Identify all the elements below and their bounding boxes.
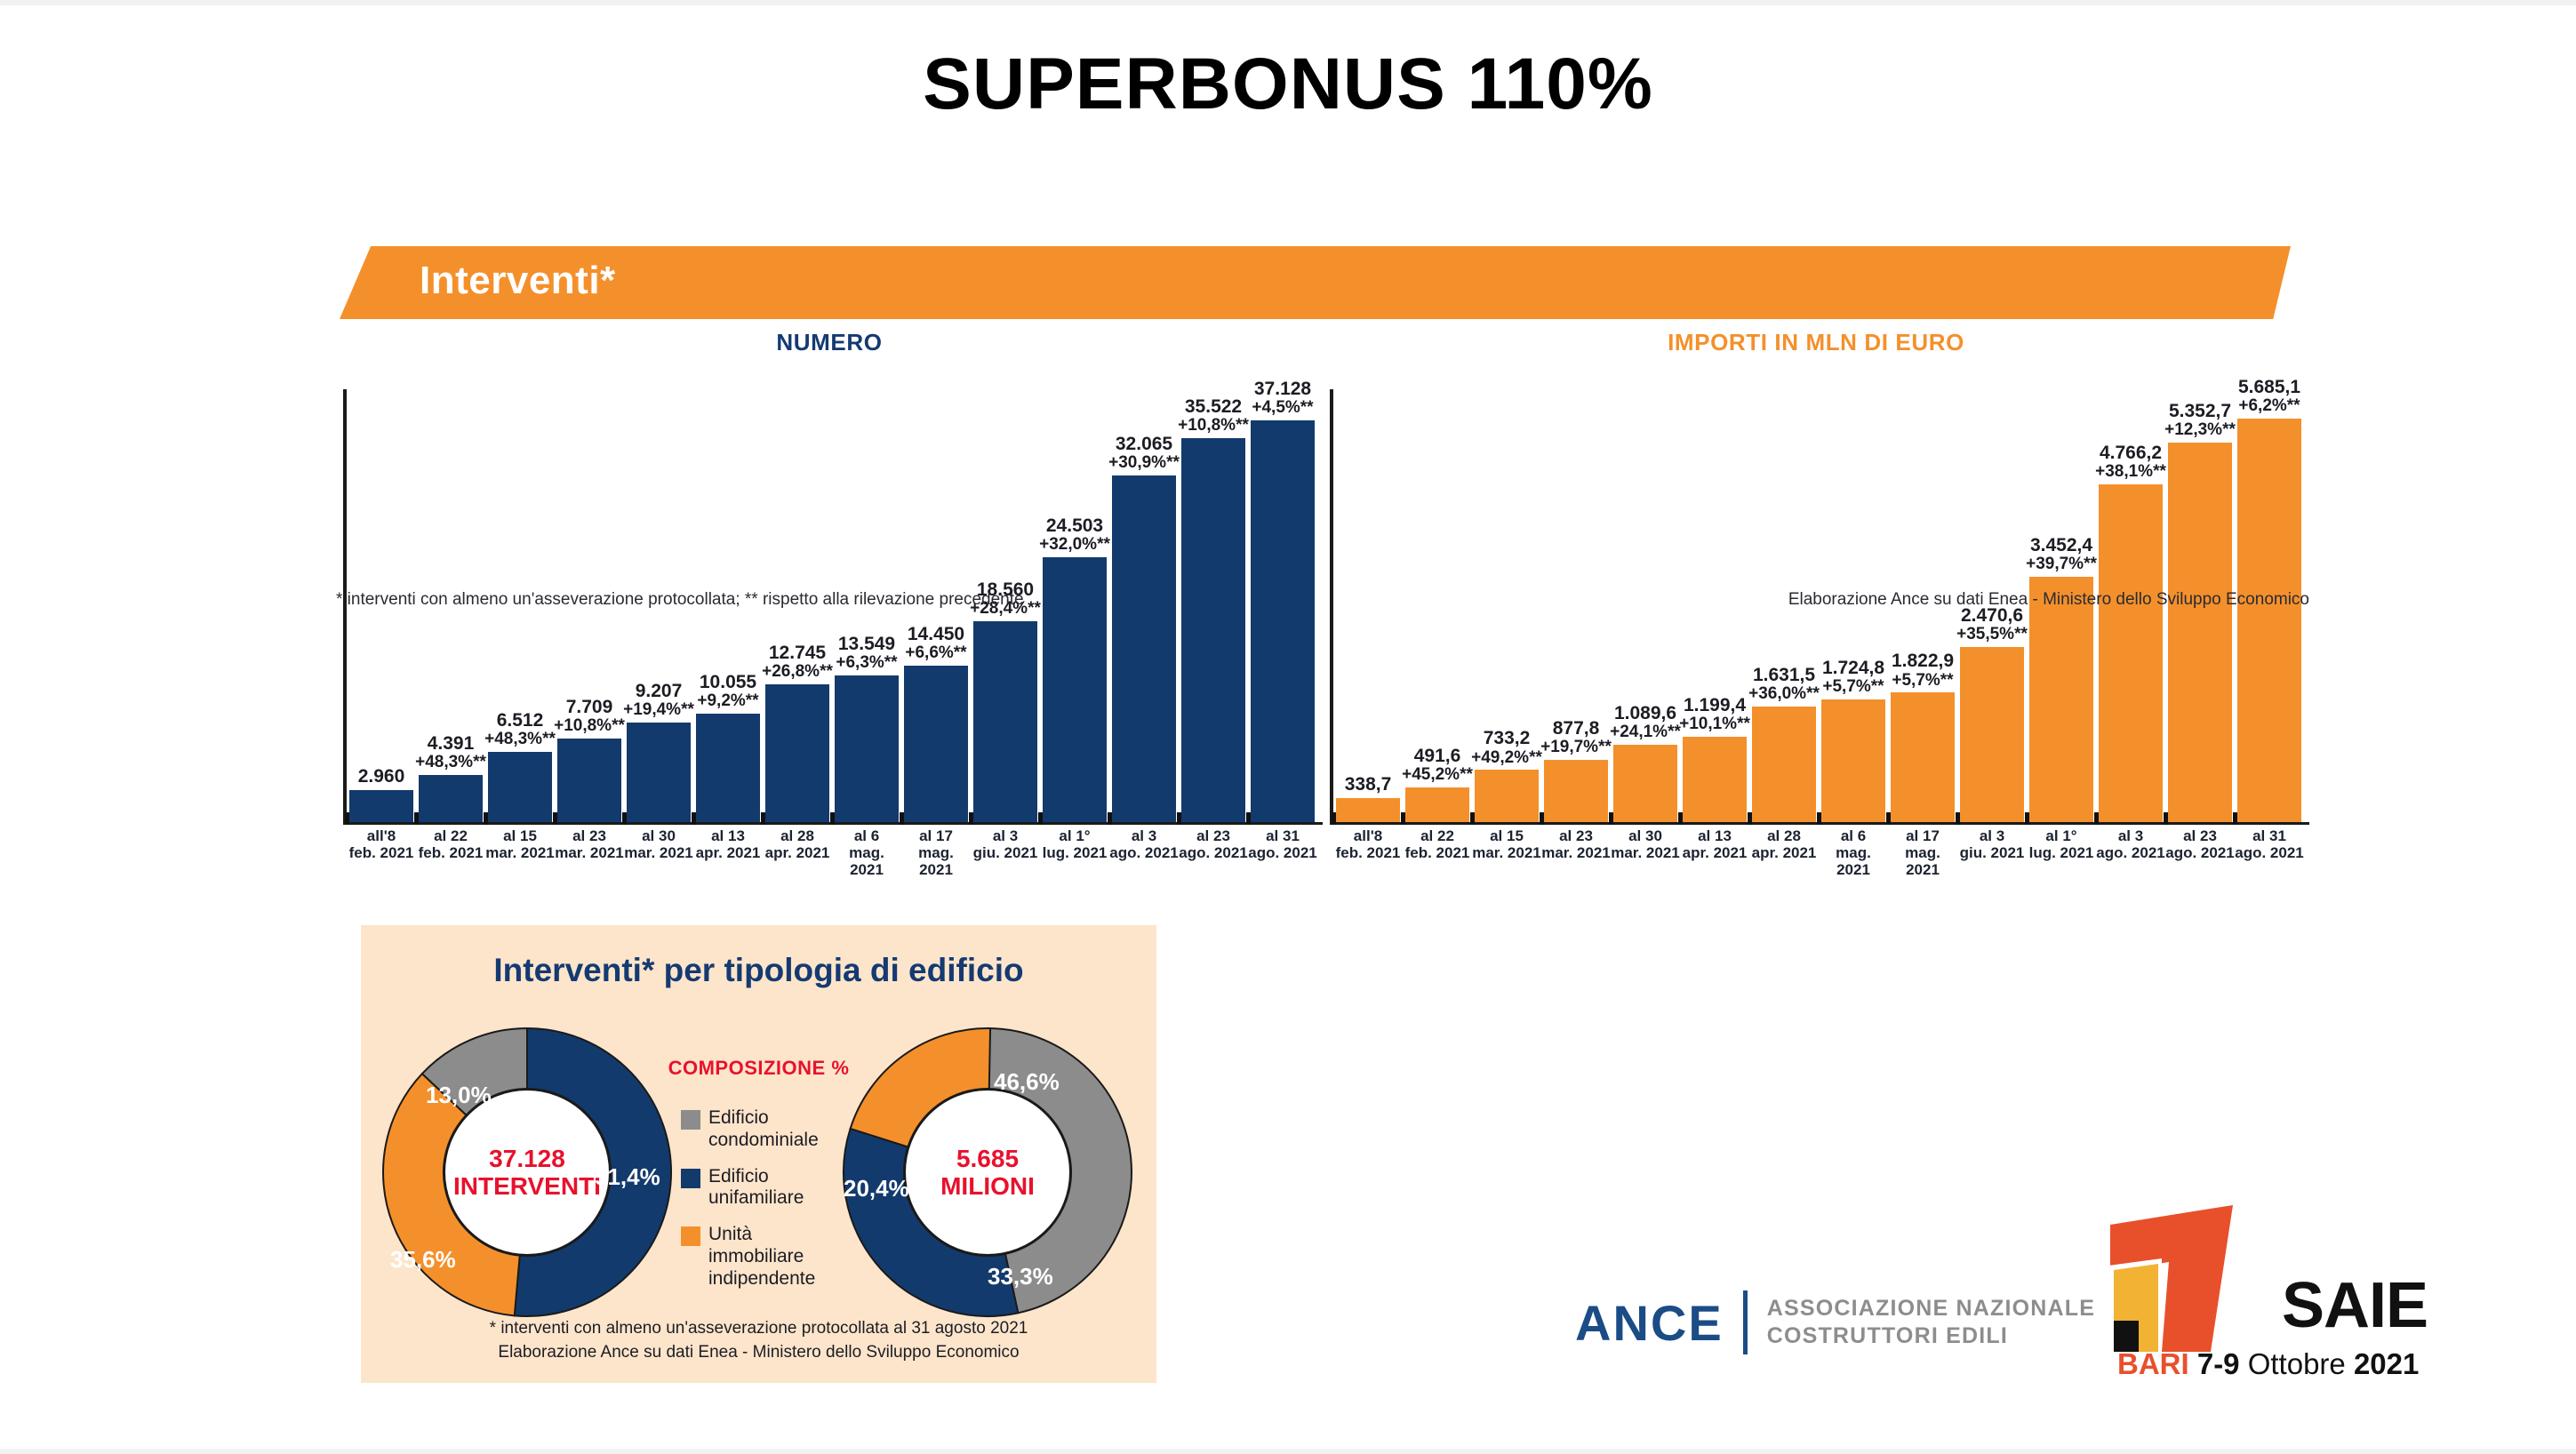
axis-tick bbox=[1038, 812, 1043, 825]
bar-rect bbox=[1043, 557, 1107, 822]
x-axis-label: al 23mar. 2021 bbox=[1541, 827, 1611, 878]
x-axis-label: al 13apr. 2021 bbox=[1680, 827, 1749, 878]
donut-chart-interventi: 37.128 INTERVENTI 51,4% 35,6% 13,0% bbox=[380, 1026, 674, 1319]
bar-slot: 32.065+30,9%** bbox=[1109, 389, 1179, 822]
donut-note-line1: * interventi con almeno un'asseverazione… bbox=[361, 1316, 1156, 1341]
bar-rect bbox=[488, 752, 552, 822]
saie-dates: 7-9 bbox=[2197, 1347, 2240, 1380]
bar-rect bbox=[1336, 798, 1400, 822]
axis-tick bbox=[1177, 812, 1181, 825]
axis-tick bbox=[1956, 812, 1960, 825]
x-axis-label: al 30mar. 2021 bbox=[624, 827, 693, 878]
bottom-edge-strip bbox=[0, 1449, 2576, 1454]
bar-rect bbox=[696, 714, 760, 822]
axis-tick bbox=[2094, 812, 2099, 825]
x-axis-label: al 3ago. 2021 bbox=[1109, 827, 1179, 878]
x-axis-label: al 23mar. 2021 bbox=[555, 827, 624, 878]
x-label-line1: al 15 bbox=[1472, 827, 1541, 844]
axis-tick bbox=[692, 812, 696, 825]
bar-rect bbox=[2029, 577, 2093, 822]
axis-tick bbox=[900, 812, 904, 825]
bar-rect bbox=[557, 739, 621, 822]
x-label-line1: al 17 bbox=[1888, 827, 1957, 844]
legend-label-line1: Edificio bbox=[708, 1166, 804, 1188]
legend-label: Edificiounifamiliare bbox=[708, 1166, 804, 1210]
axis-tick bbox=[1886, 812, 1891, 825]
x-label-line1: al 13 bbox=[693, 827, 763, 844]
axis-tick bbox=[1678, 812, 1683, 825]
bar-rect bbox=[1475, 770, 1539, 822]
donut-chart-milioni: 5.685 MILIONI 46,6% 33,3% 20,4% bbox=[841, 1026, 1134, 1319]
x-label-line1: al 6 bbox=[1819, 827, 1888, 844]
x-label-line1: all'8 bbox=[1333, 827, 1403, 844]
axis-tick bbox=[1817, 812, 1821, 825]
axis-tick bbox=[622, 812, 627, 825]
x-label-line2: mag. 2021 bbox=[1819, 844, 1888, 878]
chart-numero-note: * interventi con almeno un'asseverazione… bbox=[336, 590, 1024, 610]
x-label-line2: feb. 2021 bbox=[416, 844, 485, 861]
ance-subtitle-line2: COSTRUTTORI EDILI bbox=[1767, 1322, 2095, 1350]
x-axis-label: al 1°lug. 2021 bbox=[2027, 827, 2096, 878]
bar-rect bbox=[2237, 419, 2301, 822]
x-label-line1: al 30 bbox=[624, 827, 693, 844]
legend-label-line2: condominiale bbox=[708, 1130, 819, 1152]
x-label-line1: all'8 bbox=[347, 827, 416, 844]
donut-panel-note: * interventi con almeno un'asseverazione… bbox=[361, 1316, 1156, 1365]
bar-rect bbox=[349, 790, 413, 822]
axis-tick bbox=[1332, 812, 1336, 825]
x-axis-label: al 23ago. 2021 bbox=[2165, 827, 2235, 878]
axis-tick bbox=[345, 812, 349, 825]
x-label-line1: al 23 bbox=[2165, 827, 2235, 844]
x-label-line1: al 13 bbox=[1680, 827, 1749, 844]
saie-month: Ottobre bbox=[2248, 1347, 2346, 1380]
x-axis-label: al 17mag. 2021 bbox=[1888, 827, 1957, 878]
bar-rect bbox=[1821, 699, 1885, 822]
axis-tick bbox=[1609, 812, 1613, 825]
x-label-line1: al 22 bbox=[1403, 827, 1472, 844]
x-label-line1: al 23 bbox=[1541, 827, 1611, 844]
axis-tick bbox=[414, 812, 419, 825]
bar-rect bbox=[1544, 760, 1608, 822]
ance-logo: ANCE ASSOCIAZIONE NAZIONALE COSTRUTTORI … bbox=[1575, 1290, 2095, 1354]
x-axis-label: al 3ago. 2021 bbox=[2096, 827, 2165, 878]
saie-year: 2021 bbox=[2354, 1347, 2419, 1380]
x-axis-label: al 23ago. 2021 bbox=[1179, 827, 1248, 878]
x-label-line2: apr. 2021 bbox=[763, 844, 832, 861]
x-label-line2: ago. 2021 bbox=[2165, 844, 2235, 861]
x-axis-labels-importi: all'8feb. 2021al 22feb. 2021al 15mar. 20… bbox=[1333, 827, 2304, 878]
section-banner-interventi: Interventi* bbox=[340, 246, 2291, 319]
bar-rect bbox=[1891, 692, 1955, 822]
legend-label-line2: indipendente bbox=[708, 1268, 850, 1290]
bar-rect bbox=[2168, 443, 2232, 822]
x-label-line1: al 31 bbox=[2235, 827, 2304, 844]
bar-rect bbox=[835, 675, 899, 822]
ance-subtitle: ASSOCIAZIONE NAZIONALE COSTRUTTORI EDILI bbox=[1767, 1295, 2095, 1351]
saie-wordmark: SAIE bbox=[2282, 1269, 2428, 1342]
saie-subtitle: BARI 7-9 Ottobre 2021 bbox=[2117, 1347, 2419, 1381]
axis-tick bbox=[1748, 812, 1752, 825]
legend-swatch bbox=[681, 1110, 700, 1130]
bar-rect bbox=[1251, 420, 1315, 822]
x-label-line2: mag. 2021 bbox=[832, 844, 901, 878]
bar-rect bbox=[1683, 737, 1747, 822]
x-label-line2: feb. 2021 bbox=[347, 844, 416, 861]
axis-tick bbox=[1108, 812, 1112, 825]
ance-subtitle-line1: ASSOCIAZIONE NAZIONALE bbox=[1767, 1295, 2095, 1322]
donut-left-label-unifamiliare: 51,4% bbox=[595, 1163, 660, 1191]
axis-tick bbox=[553, 812, 557, 825]
x-label-line2: giu. 2021 bbox=[1957, 844, 2027, 861]
x-axis-label: al 28apr. 2021 bbox=[763, 827, 832, 878]
x-axis-label: al 28apr. 2021 bbox=[1749, 827, 1819, 878]
x-label-line1: al 31 bbox=[1248, 827, 1317, 844]
x-axis-label: all'8feb. 2021 bbox=[347, 827, 416, 878]
x-label-line1: al 22 bbox=[416, 827, 485, 844]
x-label-line2: apr. 2021 bbox=[693, 844, 763, 861]
x-axis-label: al 3giu. 2021 bbox=[1957, 827, 2027, 878]
bar-rect bbox=[1960, 647, 2024, 822]
x-axis-label: al 6mag. 2021 bbox=[832, 827, 901, 878]
bar-rect bbox=[419, 775, 483, 822]
axis-tick bbox=[830, 812, 835, 825]
x-label-line1: al 23 bbox=[555, 827, 624, 844]
x-label-line2: ago. 2021 bbox=[1109, 844, 1179, 861]
legend-row: Edificiounifamiliare bbox=[681, 1166, 850, 1210]
donut-left-label-condominiale: 13,0% bbox=[426, 1082, 492, 1109]
legend-swatch bbox=[681, 1169, 700, 1188]
x-label-line2: ago. 2021 bbox=[2096, 844, 2165, 861]
bar-rect bbox=[973, 621, 1037, 822]
saie-logo: SAIE BARI 7-9 Ottobre 2021 bbox=[2100, 1205, 2455, 1392]
x-label-line1: al 28 bbox=[763, 827, 832, 844]
axis-tick bbox=[969, 812, 973, 825]
x-label-line2: mar. 2021 bbox=[624, 844, 693, 861]
x-label-line2: feb. 2021 bbox=[1333, 844, 1403, 861]
x-label-line2: ago. 2021 bbox=[2235, 844, 2304, 861]
donut-panel-title: Interventi* per tipologia di edificio bbox=[361, 952, 1156, 989]
x-label-line1: al 30 bbox=[1611, 827, 1680, 844]
x-axis-label: al 6mag. 2021 bbox=[1819, 827, 1888, 878]
ance-wordmark: ANCE bbox=[1575, 1294, 1724, 1352]
donut-right-label-unita: 20,4% bbox=[844, 1175, 909, 1202]
legend-label-line2: unifamiliare bbox=[708, 1187, 804, 1210]
bar-rect bbox=[1405, 787, 1469, 822]
x-label-line2: mar. 2021 bbox=[1472, 844, 1541, 861]
x-label-line2: apr. 2021 bbox=[1680, 844, 1749, 861]
donut-legend: EdificiocondominialeEdificiounifamiliare… bbox=[681, 1107, 850, 1304]
legend-swatch bbox=[681, 1226, 700, 1246]
legend-row: Edificiocondominiale bbox=[681, 1107, 850, 1152]
x-label-line2: ago. 2021 bbox=[1179, 844, 1248, 861]
x-axis-label: al 31ago. 2021 bbox=[2235, 827, 2304, 878]
x-axis-label: al 22feb. 2021 bbox=[1403, 827, 1472, 878]
bar-rect bbox=[1613, 745, 1677, 822]
chart-importi-heading: IMPORTI IN MLN DI EURO bbox=[1323, 329, 2309, 356]
legend-row: Unità immobiliareindipendente bbox=[681, 1224, 850, 1290]
x-label-line2: feb. 2021 bbox=[1403, 844, 1472, 861]
donut-right-label-unifamiliare: 33,3% bbox=[988, 1263, 1053, 1290]
x-label-line2: mag. 2021 bbox=[901, 844, 971, 878]
axis-tick bbox=[2025, 812, 2029, 825]
x-label-line1: al 23 bbox=[1179, 827, 1248, 844]
x-label-line1: al 6 bbox=[832, 827, 901, 844]
bar-slot: 24.503+32,0%** bbox=[1040, 389, 1109, 822]
x-label-line2: lug. 2021 bbox=[2027, 844, 2096, 861]
donut-panel: Interventi* per tipologia di edificio CO… bbox=[361, 925, 1156, 1383]
legend-label: Unità immobiliareindipendente bbox=[708, 1224, 850, 1290]
x-label-line2: apr. 2021 bbox=[1749, 844, 1819, 861]
axis-tick bbox=[2233, 812, 2237, 825]
legend-label-line1: Unità immobiliare bbox=[708, 1224, 850, 1268]
x-axis-labels-numero: all'8feb. 2021al 22feb. 2021al 15mar. 20… bbox=[347, 827, 1317, 878]
x-label-line1: al 3 bbox=[971, 827, 1040, 844]
bar-rect bbox=[627, 723, 691, 822]
x-label-line2: mar. 2021 bbox=[485, 844, 555, 861]
x-label-line1: al 28 bbox=[1749, 827, 1819, 844]
x-axis-label: al 30mar. 2021 bbox=[1611, 827, 1680, 878]
axis-tick bbox=[1540, 812, 1544, 825]
x-axis-label: al 15mar. 2021 bbox=[1472, 827, 1541, 878]
legend-label-line1: Edificio bbox=[708, 1107, 819, 1130]
ance-divider bbox=[1743, 1290, 1748, 1354]
chart-numero-heading: NUMERO bbox=[336, 329, 1323, 356]
bar-rect bbox=[2099, 484, 2163, 823]
x-axis-label: al 17mag. 2021 bbox=[901, 827, 971, 878]
x-label-line1: al 3 bbox=[1957, 827, 2027, 844]
axis-tick bbox=[1246, 812, 1251, 825]
top-edge-strip bbox=[0, 0, 2576, 5]
donut-left-label-unita: 35,6% bbox=[390, 1246, 456, 1274]
bar-rect bbox=[904, 666, 968, 822]
chart-importi-note: Elaborazione Ance su dati Enea - Ministe… bbox=[1323, 590, 2309, 610]
bar-rect bbox=[1752, 707, 1816, 822]
bar-slot: 35.522+10,8%** bbox=[1179, 389, 1248, 822]
x-label-line2: lug. 2021 bbox=[1040, 844, 1109, 861]
x-axis-label: al 3giu. 2021 bbox=[971, 827, 1040, 878]
bar-rect bbox=[1112, 475, 1176, 822]
donut-right-label-condominiale: 46,6% bbox=[994, 1068, 1060, 1096]
saie-mark-icon bbox=[2100, 1205, 2291, 1352]
axis-tick bbox=[484, 812, 488, 825]
x-label-line1: al 1° bbox=[2027, 827, 2096, 844]
x-label-line1: al 17 bbox=[901, 827, 971, 844]
axis-tick bbox=[1470, 812, 1475, 825]
bar-slot: 37.128+4,5%** bbox=[1248, 389, 1317, 822]
x-axis-label: al 1°lug. 2021 bbox=[1040, 827, 1109, 878]
axis-tick bbox=[1401, 812, 1405, 825]
x-label-line2: giu. 2021 bbox=[971, 844, 1040, 861]
page-title: SUPERBONUS 110% bbox=[0, 43, 2576, 126]
x-label-line1: al 15 bbox=[485, 827, 555, 844]
bar-rect bbox=[765, 684, 829, 822]
x-label-line1: al 3 bbox=[1109, 827, 1179, 844]
bar-rect bbox=[1181, 438, 1245, 822]
x-label-line2: mar. 2021 bbox=[1541, 844, 1611, 861]
x-axis-label: al 13apr. 2021 bbox=[693, 827, 763, 878]
axis-tick bbox=[761, 812, 765, 825]
x-axis-label: al 22feb. 2021 bbox=[416, 827, 485, 878]
x-label-line1: al 1° bbox=[1040, 827, 1109, 844]
x-axis-label: all'8feb. 2021 bbox=[1333, 827, 1403, 878]
x-axis-label: al 31ago. 2021 bbox=[1248, 827, 1317, 878]
x-label-line2: mar. 2021 bbox=[1611, 844, 1680, 861]
donut-note-line2: Elaborazione Ance su dati Enea - Ministe… bbox=[361, 1340, 1156, 1365]
x-label-line1: al 3 bbox=[2096, 827, 2165, 844]
banner-label: Interventi* bbox=[420, 259, 616, 303]
x-label-line2: mar. 2021 bbox=[555, 844, 624, 861]
legend-label: Edificiocondominiale bbox=[708, 1107, 819, 1152]
x-axis-label: al 15mar. 2021 bbox=[485, 827, 555, 878]
axis-tick bbox=[2164, 812, 2168, 825]
x-label-line2: ago. 2021 bbox=[1248, 844, 1317, 861]
x-label-line2: mag. 2021 bbox=[1888, 844, 1957, 878]
saie-city: BARI bbox=[2117, 1347, 2189, 1380]
